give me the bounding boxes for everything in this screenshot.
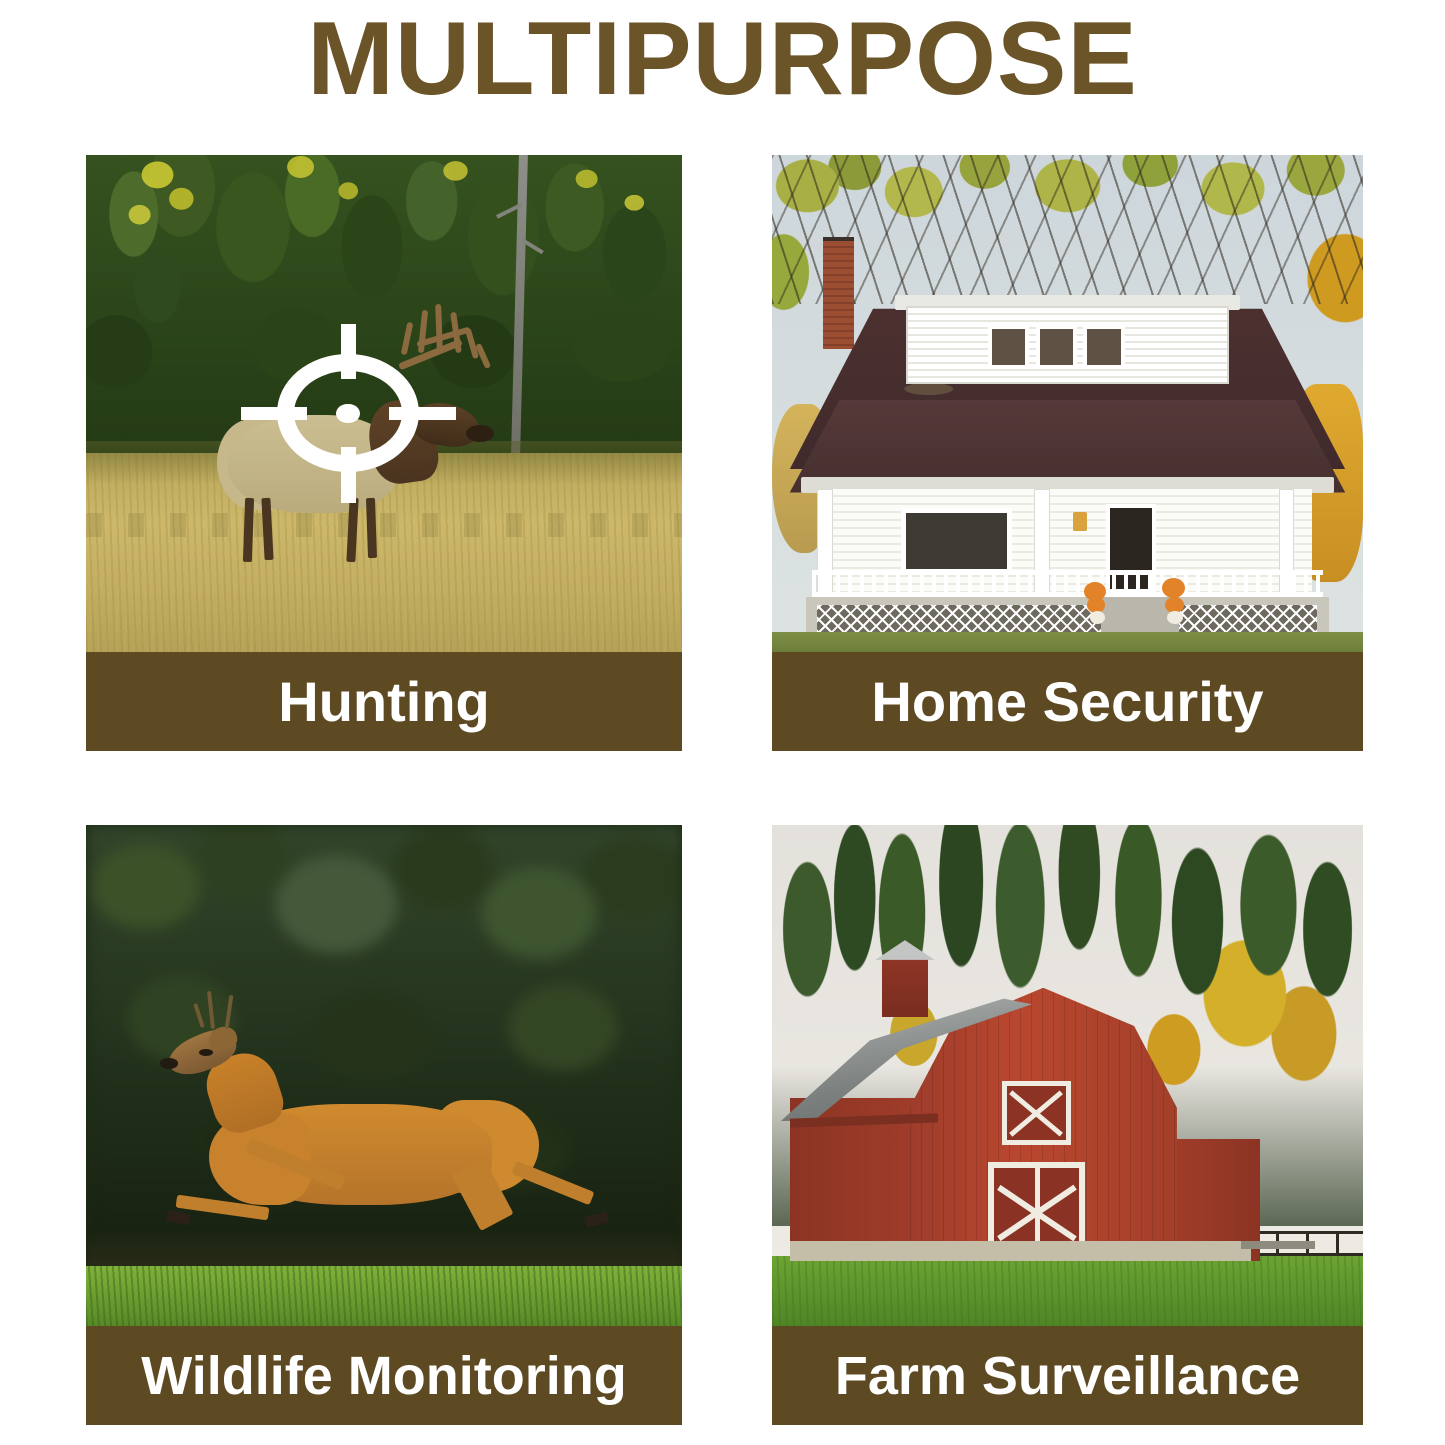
porch-railing	[812, 570, 1323, 597]
use-case-card-hunting[interactable]: Hunting	[86, 155, 682, 751]
porch-light-icon	[1073, 512, 1087, 531]
dormer-window	[1083, 325, 1124, 369]
porch-window	[901, 508, 1012, 574]
reticle-arm-bottom	[341, 447, 356, 502]
use-case-card-wildlife-monitoring[interactable]: Wildlife Monitoring	[86, 825, 682, 1425]
reticle-center-dot	[336, 404, 360, 424]
caption-home-security: Home Security	[772, 652, 1363, 751]
wildlife-monitoring-photo	[86, 825, 682, 1326]
elk-muzzle	[466, 425, 493, 442]
use-case-card-home-security[interactable]: Home Security	[772, 155, 1363, 751]
house	[790, 244, 1346, 632]
page-title: MULTIPURPOSE	[0, 4, 1445, 114]
deer-hind-leg	[511, 1161, 594, 1205]
reticle-arm-right	[389, 407, 456, 420]
use-case-grid: Hunting	[86, 155, 1363, 1425]
deer-hoof	[166, 1209, 191, 1224]
dormer-window	[1036, 325, 1077, 369]
pumpkin	[1162, 578, 1185, 598]
hunting-photo	[86, 155, 682, 652]
elk-leg	[243, 498, 255, 562]
elk-leg	[366, 498, 377, 559]
deer-nose	[160, 1058, 179, 1069]
front-lawn	[772, 632, 1363, 652]
caption-hunting: Hunting	[86, 652, 682, 751]
leaping-roe-deer	[158, 1045, 623, 1255]
caption-wildlife-monitoring: Wildlife Monitoring	[86, 1326, 682, 1425]
bench	[1241, 1241, 1315, 1250]
reticle-arm-top	[341, 324, 356, 379]
white-pumpkin	[1090, 611, 1106, 624]
multipurpose-infographic: MULTIPURPOSE	[0, 0, 1445, 1445]
dormer-window	[988, 325, 1029, 369]
dormer	[906, 306, 1228, 384]
home-security-photo	[772, 155, 1363, 652]
elk-leg	[347, 498, 360, 563]
green-meadow	[86, 1266, 682, 1326]
reticle-arm-left	[241, 407, 308, 420]
deer-eye	[199, 1049, 213, 1056]
brick-chimney	[823, 237, 854, 350]
deer-hoof	[584, 1211, 609, 1227]
barn-cupola	[882, 959, 928, 1017]
caption-farm-surveillance: Farm Surveillance	[772, 1326, 1363, 1425]
farm-surveillance-photo	[772, 825, 1363, 1326]
barn-foundation	[790, 1241, 1251, 1261]
barn-hay-door	[1002, 1081, 1071, 1145]
lattice-skirting	[817, 605, 1317, 632]
crosshair-reticle-icon	[241, 324, 456, 503]
use-case-card-farm-surveillance[interactable]: Farm Surveillance	[772, 825, 1363, 1425]
red-barn	[790, 970, 1251, 1261]
white-pumpkin	[1167, 611, 1183, 624]
farm-lawn	[772, 1256, 1363, 1326]
